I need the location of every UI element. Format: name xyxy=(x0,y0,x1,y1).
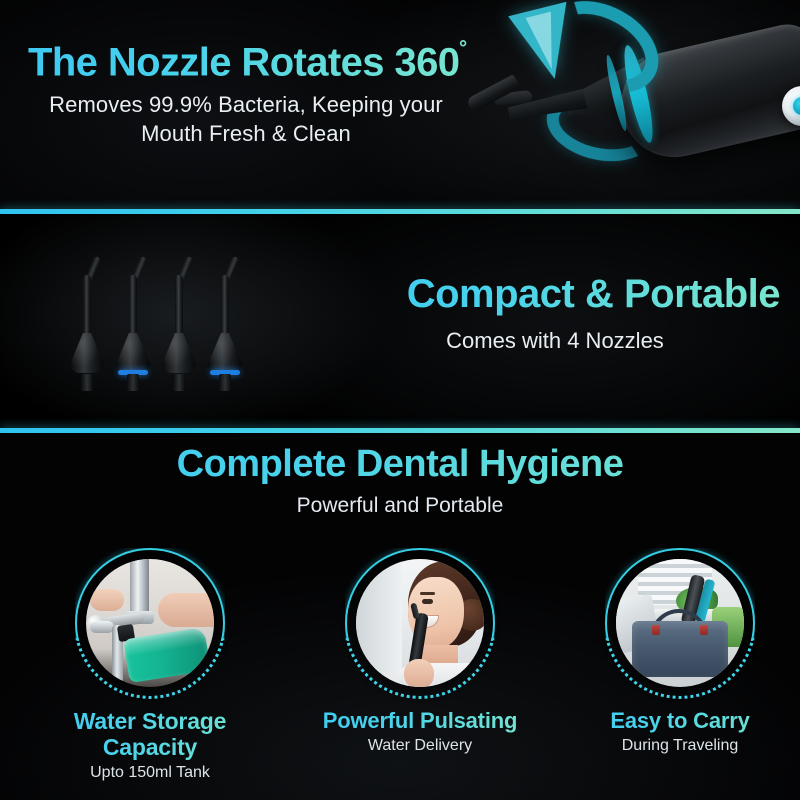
nozzle-2 xyxy=(116,226,150,391)
nozzle-base xyxy=(219,374,231,391)
nozzle-base xyxy=(81,374,93,391)
feature-powerful-pulsating: Powerful Pulsating Water Delivery xyxy=(300,548,540,755)
feature-subtitle: Water Delivery xyxy=(300,737,540,755)
section3-subtitle: Powerful and Portable xyxy=(0,494,800,518)
feature-circle xyxy=(75,548,225,698)
nozzles-product-image xyxy=(66,226,286,391)
product-infographic: The Nozzle Rotates 360˚ Removes 99.9% Ba… xyxy=(0,0,800,800)
section3-heading: Complete Dental Hygiene xyxy=(0,443,800,486)
nozzle-body xyxy=(116,333,150,373)
feature-easy-to-carry: Easy to Carry During Traveling xyxy=(560,548,800,755)
section1-heading-text: The Nozzle Rotates 360 xyxy=(28,40,459,84)
section1-heading: The Nozzle Rotates 360˚ xyxy=(28,37,468,85)
nozzle-base xyxy=(173,374,185,391)
section1-subtitle: Removes 99.9% Bacteria, Keeping your Mou… xyxy=(46,90,446,149)
nozzle-body xyxy=(162,333,196,373)
nozzle-4 xyxy=(208,226,242,391)
feature-subtitle: During Traveling xyxy=(560,737,800,755)
nozzle-base xyxy=(127,374,139,391)
feature-circle xyxy=(345,548,495,698)
nozzle-body xyxy=(70,333,104,373)
section-nozzle-rotates: The Nozzle Rotates 360˚ Removes 99.9% Ba… xyxy=(0,0,800,209)
feature-water-storage-capacity: Water Storage Capacity Upto 150ml Tank xyxy=(30,548,270,782)
feature-title: Water Storage Capacity xyxy=(30,709,270,761)
nozzle-3 xyxy=(162,226,196,391)
feature-subtitle: Upto 150ml Tank xyxy=(30,764,270,782)
degree-symbol: ˚ xyxy=(459,37,468,67)
section2-heading: Compact & Portable xyxy=(330,272,780,317)
water-flosser-product-image xyxy=(470,0,800,209)
feature-title: Powerful Pulsating xyxy=(300,709,540,734)
nozzle-body xyxy=(208,333,242,373)
nozzle-1 xyxy=(70,226,104,391)
section2-subtitle: Comes with 4 Nozzles xyxy=(330,328,780,354)
feature-circle xyxy=(605,548,755,698)
feature-title: Easy to Carry xyxy=(560,709,800,734)
